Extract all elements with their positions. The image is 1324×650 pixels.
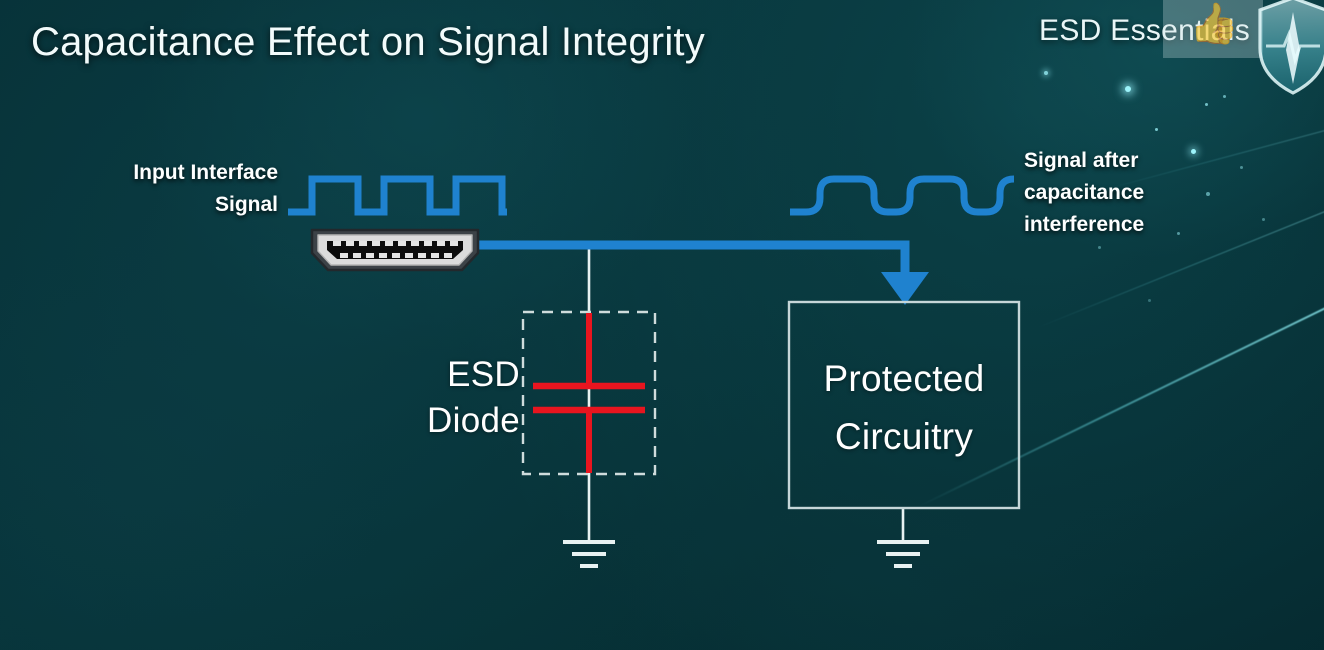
ground-symbol-left [563, 542, 615, 566]
slide-canvas: Capacitance Effect on Signal Integrity E… [0, 0, 1324, 650]
protected-circuitry-label-line1: Protected [789, 350, 1019, 408]
esd-diode-label: ESD Diode [370, 352, 520, 444]
ground-symbol-right [877, 542, 929, 566]
hdmi-connector [312, 230, 478, 270]
esd-diode-label-line2: Diode [370, 398, 520, 444]
protected-circuitry-label: Protected Circuitry [789, 350, 1019, 465]
circuit-diagram [0, 0, 1324, 650]
output-waveform [790, 179, 1014, 212]
esd-diode-label-line1: ESD [370, 352, 520, 398]
protected-circuitry-label-line2: Circuitry [789, 408, 1019, 466]
signal-trace [476, 245, 929, 305]
hdmi-pins-bottom [340, 253, 452, 258]
input-waveform [288, 179, 507, 212]
